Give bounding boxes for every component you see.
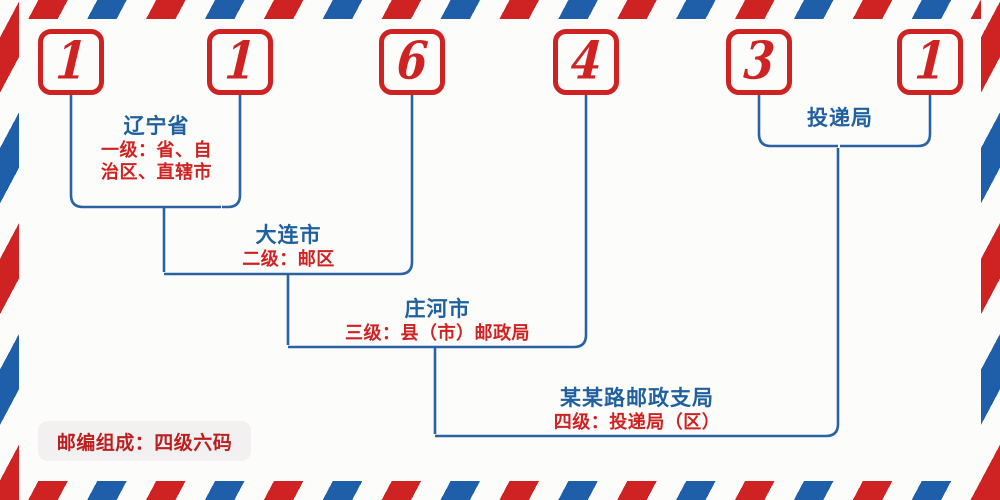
postcode-digit-glyph-5: 3 (742, 36, 776, 88)
postcode-digit-glyph-4: 4 (569, 36, 603, 88)
legend-pill: 邮编组成：四级六码 (38, 421, 251, 461)
node-level4-subtitle: 四级：投递局（区） (437, 412, 837, 434)
postcode-digit-box-5[interactable]: 3 (726, 29, 792, 95)
postcode-digit-glyph-3: 6 (395, 36, 429, 88)
node-level3-title: 庄河市 (290, 297, 585, 323)
node-level1[interactable]: 辽宁省 一级：省、自 治区、直辖市 (73, 112, 240, 184)
legend-text: 邮编组成：四级六码 (57, 428, 233, 455)
postcode-digit-glyph-6: 1 (913, 36, 947, 88)
node-level1-subtitle-line2: 治区、直辖市 (73, 162, 240, 184)
postcode-digit-box-2[interactable]: 1 (207, 29, 273, 95)
node-level1-subtitle-line1: 一级：省、自 (73, 140, 240, 162)
postcode-digit-box-4[interactable]: 4 (553, 29, 619, 95)
node-level4[interactable]: 某某路邮政支局 四级：投递局（区） (437, 384, 837, 434)
node-delivery[interactable]: 投递局 (760, 104, 920, 132)
node-level2[interactable]: 大连市 二级：邮区 (166, 221, 411, 271)
postcode-digit-glyph-1: 1 (54, 36, 88, 88)
postcode-digit-glyph-2: 1 (223, 36, 257, 88)
node-level2-subtitle: 二级：邮区 (166, 249, 411, 271)
postcode-digit-box-1[interactable]: 1 (38, 29, 104, 95)
postcode-diagram: 1 1 6 4 3 1 投递局 辽宁省 一级：省、自 治区、直辖市 大连市 二级… (0, 0, 1000, 500)
postcode-digit-box-6[interactable]: 1 (897, 29, 963, 95)
node-level3-subtitle: 三级：县（市）邮政局 (290, 323, 585, 345)
postcode-digit-box-3[interactable]: 6 (379, 29, 445, 95)
node-level2-title: 大连市 (166, 223, 411, 249)
node-delivery-title: 投递局 (760, 106, 920, 132)
node-level4-title: 某某路邮政支局 (437, 386, 837, 412)
node-level1-title: 辽宁省 (73, 114, 240, 140)
node-level3[interactable]: 庄河市 三级：县（市）邮政局 (290, 295, 585, 345)
